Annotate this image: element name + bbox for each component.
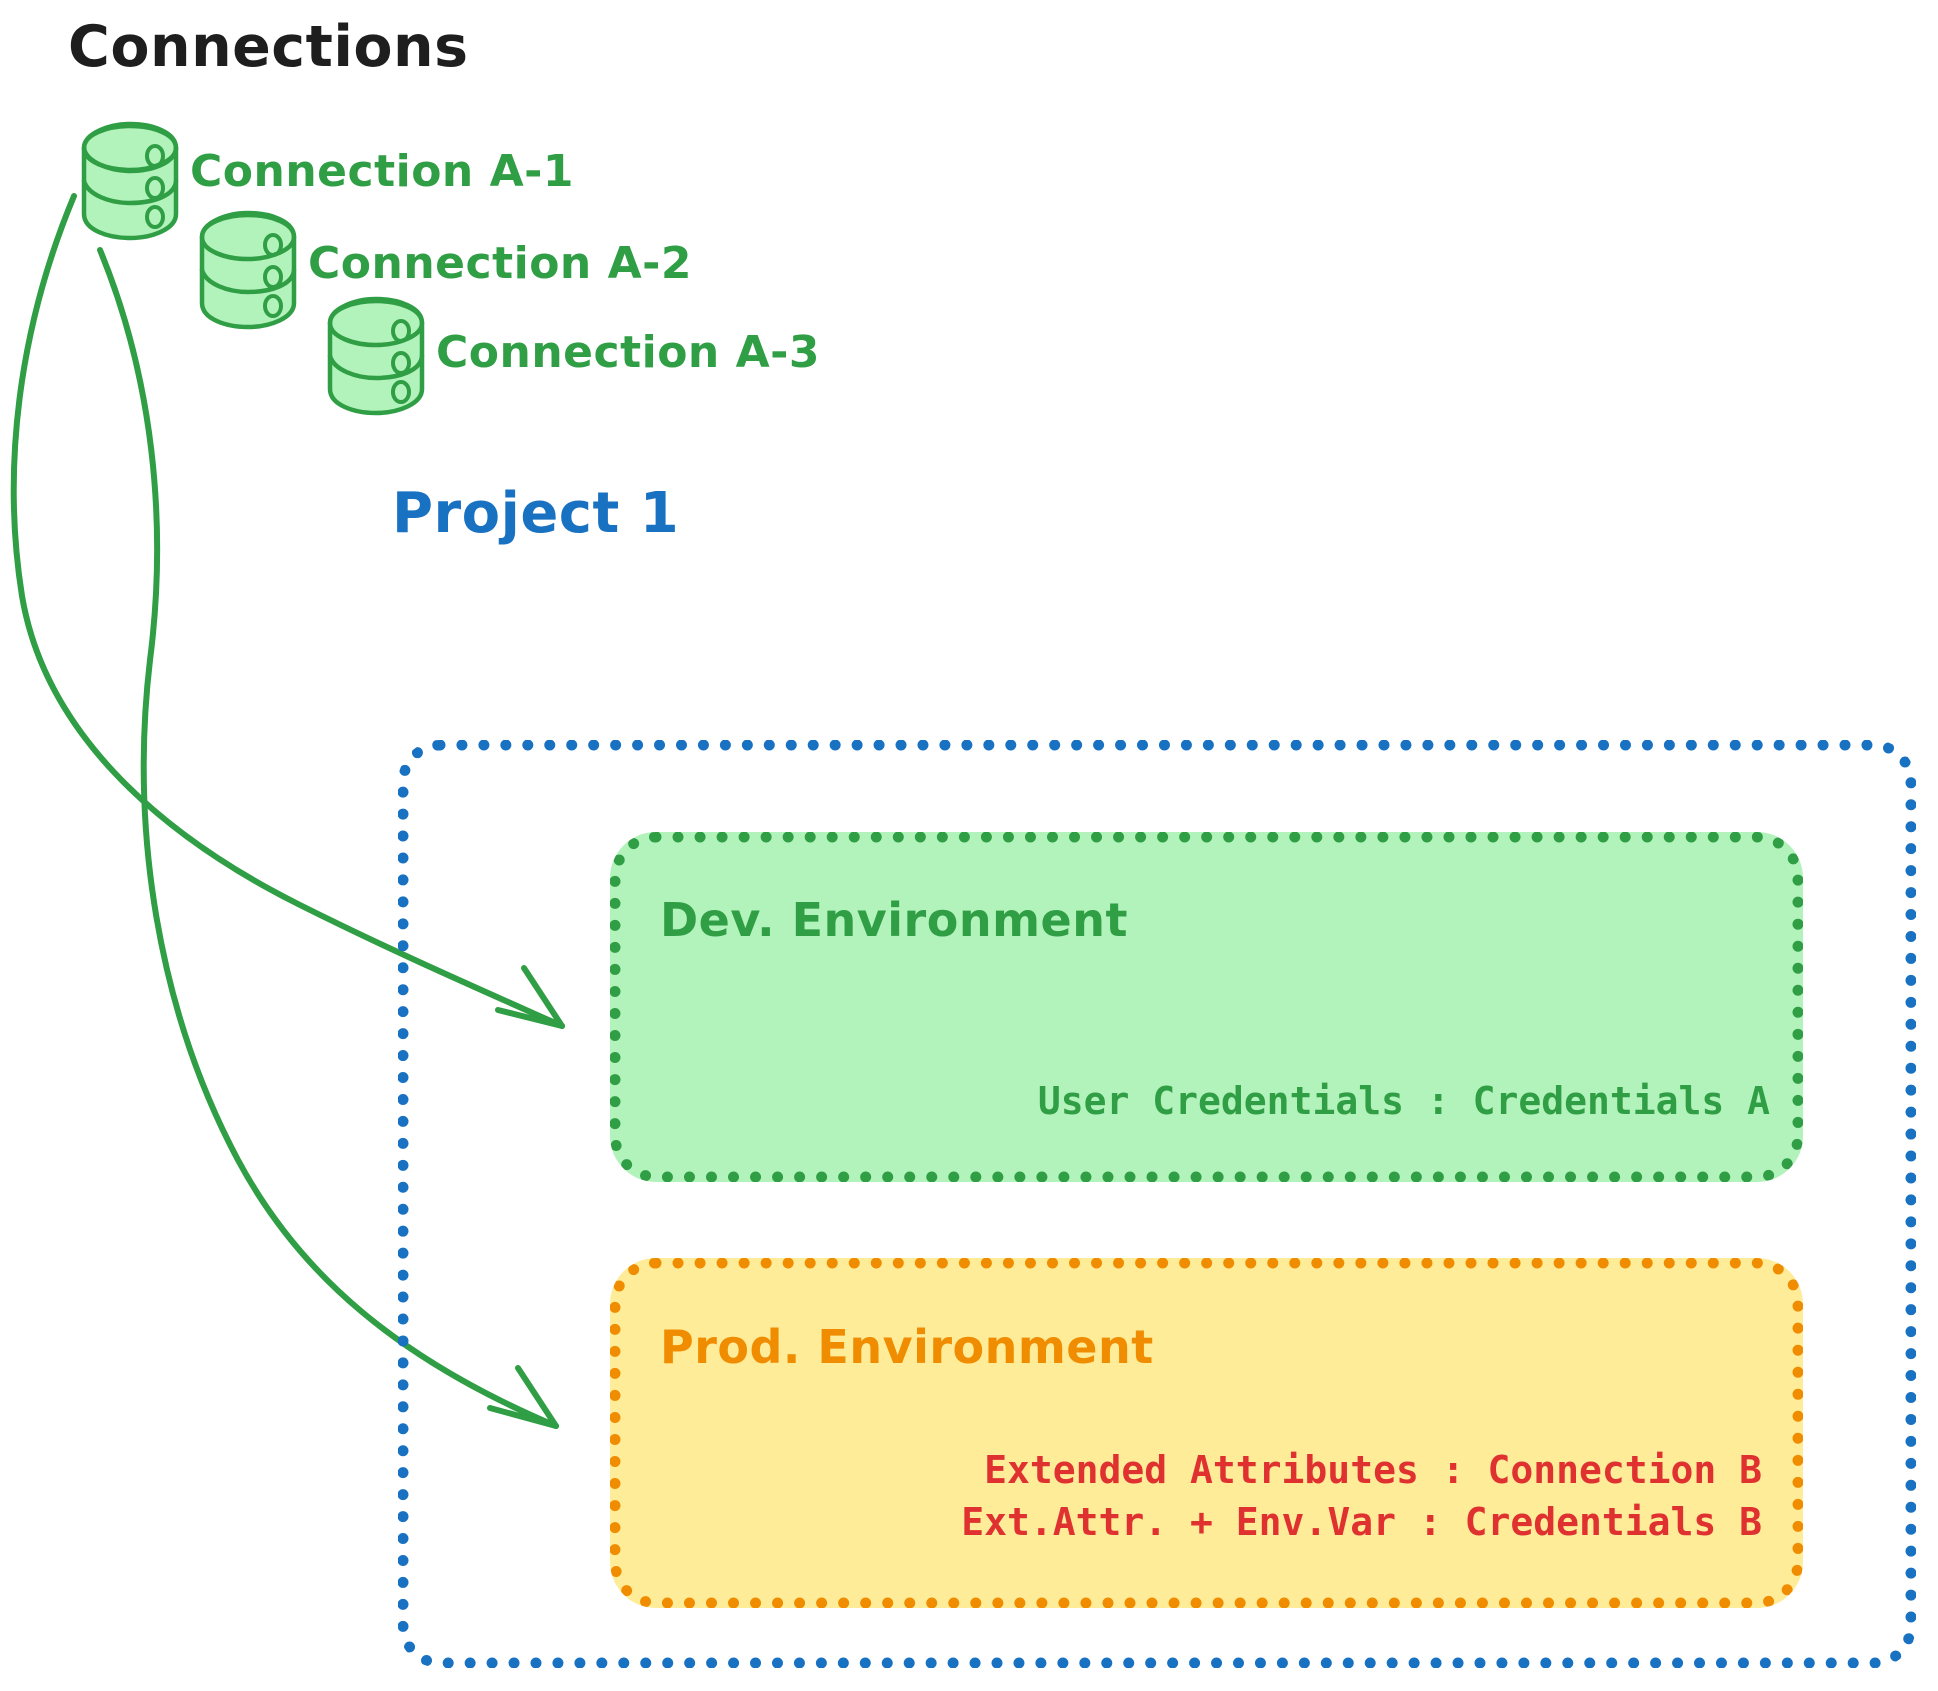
connection-label-a-2: Connection A-2	[308, 238, 692, 289]
connection-label-a-3: Connection A-3	[436, 327, 820, 378]
database-icon-connection-a-3[interactable]	[330, 299, 422, 413]
database-icon-connection-a-1[interactable]	[84, 124, 176, 238]
database-icon-connection-a-2[interactable]	[202, 213, 294, 327]
dev-environment-box[interactable]	[610, 832, 1803, 1182]
prod-environment-detail-extended-attributes: Extended Attributes : Connection B	[0, 1448, 1762, 1492]
prod-environment-detail-ext-attr-env-var: Ext.Attr. + Env.Var : Credentials B	[0, 1500, 1762, 1544]
project-title: Project 1	[392, 481, 679, 546]
prod-environment-title: Prod. Environment	[660, 1320, 1154, 1374]
page-title: Connections	[68, 14, 469, 80]
connection-label-a-1: Connection A-1	[190, 146, 574, 197]
diagram-canvas: Connections	[0, 0, 1938, 1691]
dev-environment-title: Dev. Environment	[660, 893, 1128, 947]
dev-environment-detail-user-credentials: User Credentials : Credentials A	[0, 1079, 1770, 1123]
prod-environment-box[interactable]	[610, 1258, 1803, 1608]
